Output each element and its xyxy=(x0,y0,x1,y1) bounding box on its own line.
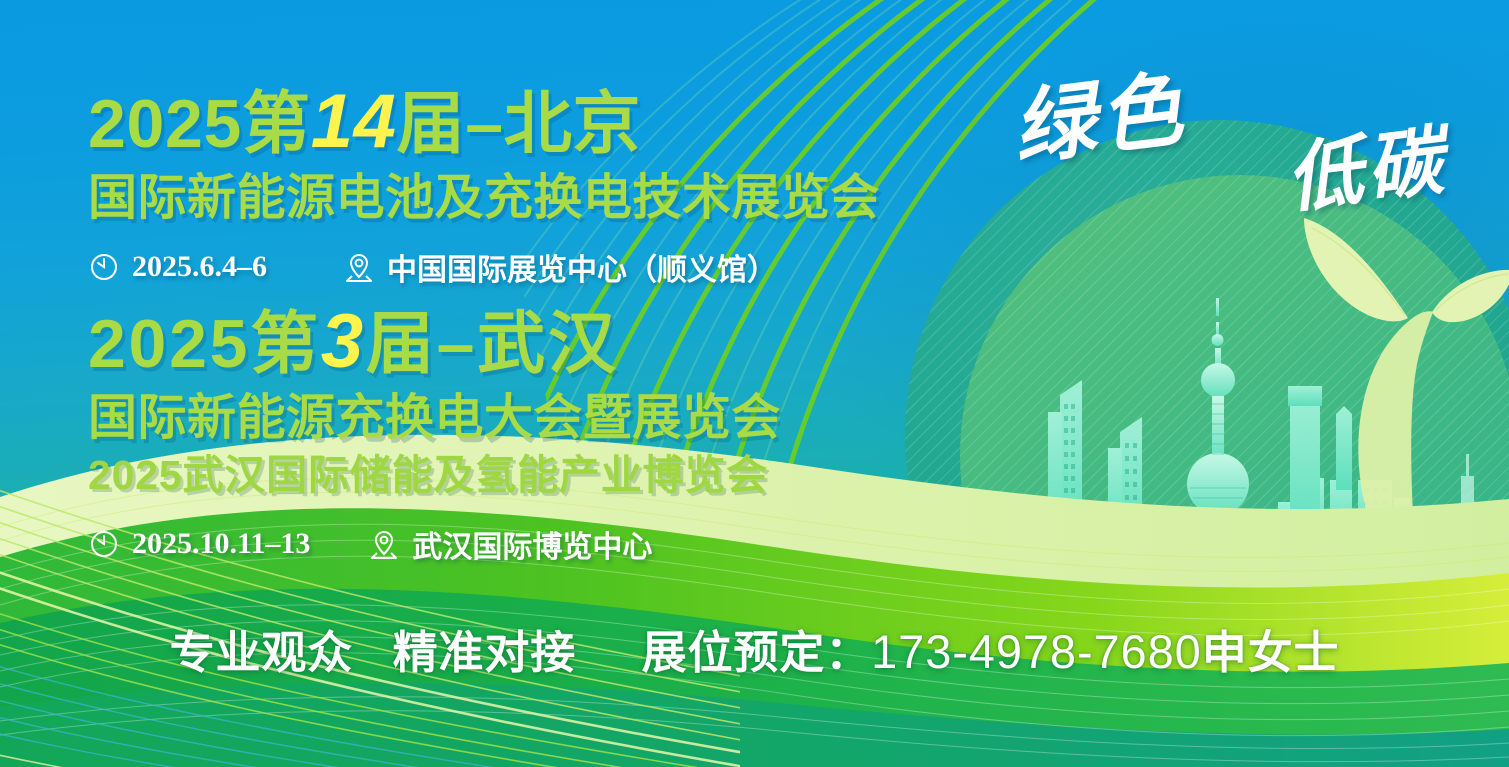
beijing-meta-row: 2025.6.4–6 中国国际展览中心（顺义馆） xyxy=(88,245,880,289)
wuhan-title-city: 武汉 xyxy=(477,306,618,382)
beijing-title-dash: – xyxy=(465,86,504,162)
beijing-subtitle: 国际新能源电池及充换电技术展览会 xyxy=(88,174,880,223)
beijing-title-edition: 14 xyxy=(311,79,397,164)
beijing-title-city: 北京 xyxy=(504,86,641,162)
beijing-title-year: 2025第 xyxy=(88,86,311,162)
wuhan-title-suffix: 届 xyxy=(366,306,437,382)
footer-cta-label: 展位预定： xyxy=(642,627,872,678)
beijing-title-suffix: 届 xyxy=(397,86,466,162)
wuhan-title-line: 2025第3届–武汉 xyxy=(88,304,781,380)
beijing-title-line: 2025第14届–北京 xyxy=(88,84,880,160)
map-pin-icon xyxy=(341,251,375,283)
wuhan-meta-row: 2025.10.11–13 武汉国际博览中心 xyxy=(88,522,781,566)
footer-tag-2: 精准对接 xyxy=(393,627,577,678)
wuhan-event-block: 2025第3届–武汉 国际新能源充换电大会暨展览会 2025武汉国际储能及氢能产… xyxy=(88,304,781,566)
map-pin-icon xyxy=(366,528,400,560)
calligraphy-green-text: 绿色 xyxy=(1005,42,1192,181)
event-poster-banner: 绿色 低碳 2025第14届–北京 国际新能源电池及充换电技术展览会 2025.… xyxy=(0,0,1509,767)
wuhan-date: 2025.10.11–13 xyxy=(132,527,310,561)
wuhan-subtitle-secondary: 2025武汉国际储能及氢能产业博览会 xyxy=(88,455,781,496)
beijing-date: 2025.6.4–6 xyxy=(132,250,267,284)
footer-tag-1: 专业观众 xyxy=(170,627,354,678)
clock-icon xyxy=(88,251,120,283)
clock-icon xyxy=(88,528,120,560)
wuhan-subtitle: 国际新能源充换电大会暨展览会 xyxy=(88,394,781,443)
wuhan-title-year: 2025第 xyxy=(88,306,321,382)
calligraphy-lowcarbon-text: 低碳 xyxy=(1279,99,1452,228)
beijing-venue: 中国国际展览中心（顺义馆） xyxy=(387,245,777,289)
wuhan-title-edition: 3 xyxy=(321,299,366,384)
beijing-event-block: 2025第14届–北京 国际新能源电池及充换电技术展览会 2025.6.4–6 … xyxy=(88,84,880,289)
footer-phone-number[interactable]: 173-4978-7680 xyxy=(871,625,1202,678)
wuhan-title-dash: – xyxy=(437,306,478,382)
footer-cta-line: 专业观众 精准对接 展位预定：173-4978-7680申女士 xyxy=(0,616,1509,681)
wuhan-venue: 武汉国际博览中心 xyxy=(412,522,652,566)
footer-contact-name: 申女士 xyxy=(1202,627,1340,678)
